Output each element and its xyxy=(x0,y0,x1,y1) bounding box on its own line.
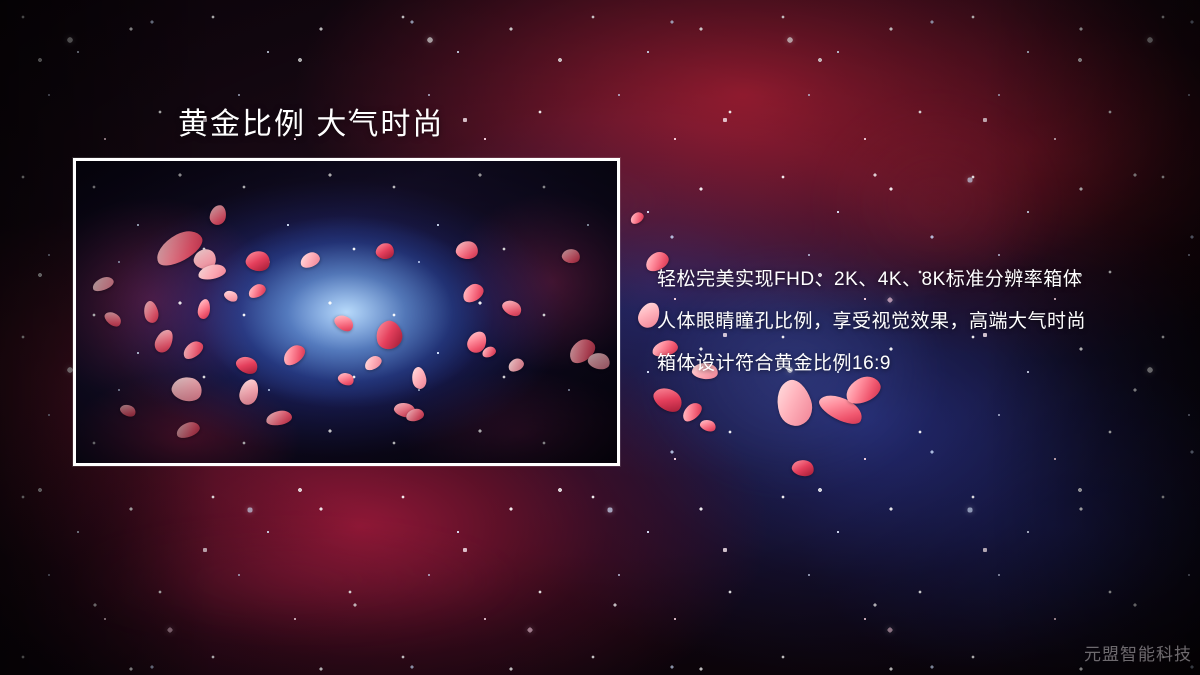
framed-picture xyxy=(73,158,620,466)
body-line-2: 人体眼睛瞳孔比例，享受视觉效果，高端大气时尚 xyxy=(657,301,1177,343)
presentation-slide: 黄金比例 大气时尚 xyxy=(0,0,1200,675)
page-title: 黄金比例 大气时尚 xyxy=(178,99,444,143)
body-line-1: 轻松完美实现FHD、2K、4K、8K标准分辨率箱体 xyxy=(657,259,1177,301)
body-copy: 轻松完美实现FHD、2K、4K、8K标准分辨率箱体 人体眼睛瞳孔比例，享受视觉效… xyxy=(657,259,1177,385)
picture-content xyxy=(76,161,617,463)
picture-vignette xyxy=(76,161,617,463)
body-line-3: 箱体设计符合黄金比例16:9 xyxy=(657,343,1177,385)
watermark: 元盟智能科技 xyxy=(1084,640,1192,665)
